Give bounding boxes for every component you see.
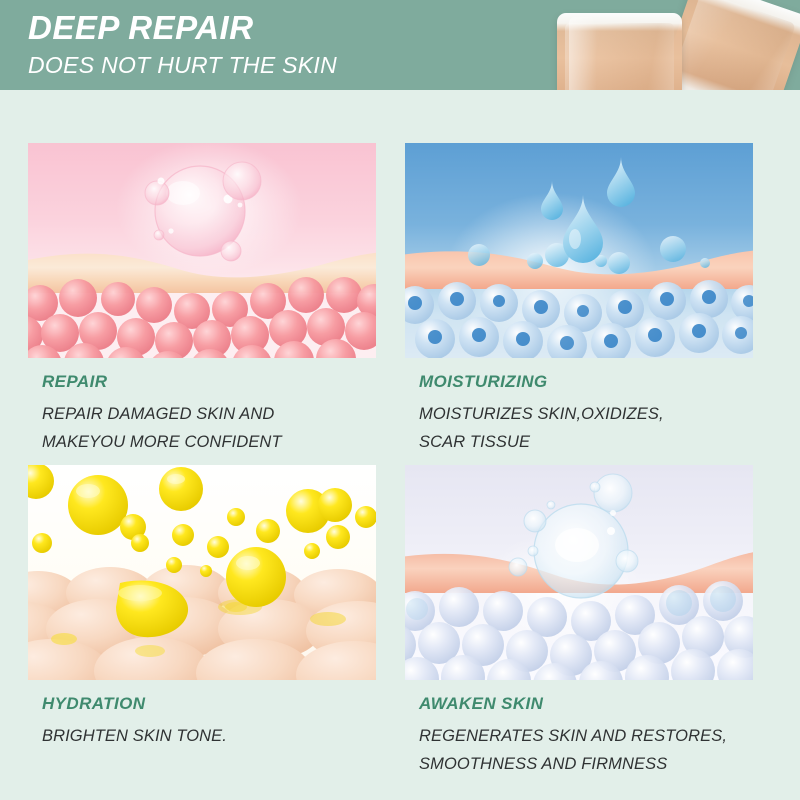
hydration-caption: HYDRATION BRIGHTEN SKIN TONE. — [28, 680, 376, 750]
awaken-skin-body: REGENERATES SKIN AND RESTORES, SMOOTHNES… — [419, 722, 753, 778]
benefit-card-repair: REPAIR REPAIR DAMAGED SKIN AND MAKEYOU M… — [28, 143, 376, 456]
product-photo — [540, 0, 800, 90]
hydration-illustration — [28, 465, 376, 680]
page-title: DEEP REPAIR — [28, 8, 548, 48]
awaken-skin-title: AWAKEN SKIN — [419, 694, 753, 714]
repair-title: REPAIR — [42, 372, 376, 392]
moisturizing-illustration — [405, 143, 753, 358]
awaken-skin-caption: AWAKEN SKIN REGENERATES SKIN AND RESTORE… — [405, 680, 753, 778]
moisturizing-title: MOISTURIZING — [419, 372, 753, 392]
header-banner: DEEP REPAIR DOES NOT HURT THE SKIN — [0, 0, 800, 90]
pink-gradient-background — [28, 143, 376, 358]
benefit-card-hydration: HYDRATION BRIGHTEN SKIN TONE. — [28, 465, 376, 750]
scar-tape-roll-upright — [557, 13, 682, 90]
moisturizing-body: MOISTURIZES SKIN,OXIDIZES, SCAR TISSUE — [419, 400, 753, 456]
hydration-body: BRIGHTEN SKIN TONE. — [42, 722, 376, 750]
benefit-card-moisturizing: MOISTURIZING MOISTURIZES SKIN,OXIDIZES, … — [405, 143, 753, 456]
repair-body: REPAIR DAMAGED SKIN AND MAKEYOU MORE CON… — [42, 400, 376, 456]
white-background — [28, 465, 376, 680]
page-subtitle: DOES NOT HURT THE SKIN — [28, 48, 548, 82]
moisturizing-caption: MOISTURIZING MOISTURIZES SKIN,OXIDIZES, … — [405, 358, 753, 456]
repair-caption: REPAIR REPAIR DAMAGED SKIN AND MAKEYOU M… — [28, 358, 376, 456]
awaken-skin-illustration — [405, 465, 753, 680]
repair-illustration — [28, 143, 376, 358]
pale-lavender-background — [405, 465, 753, 680]
header-text-block: DEEP REPAIR DOES NOT HURT THE SKIN — [28, 8, 548, 82]
hydration-title: HYDRATION — [42, 694, 376, 714]
blue-gradient-background — [405, 143, 753, 358]
benefit-card-awaken-skin: AWAKEN SKIN REGENERATES SKIN AND RESTORE… — [405, 465, 753, 778]
